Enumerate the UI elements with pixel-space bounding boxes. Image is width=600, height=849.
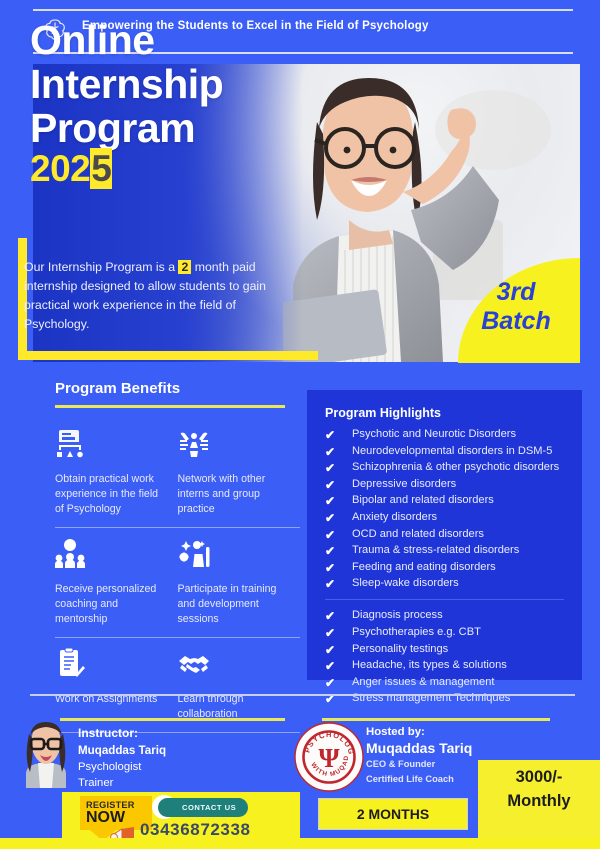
highlight-label: OCD and related disorders — [352, 528, 484, 540]
highlight-label: Anxiety disorders — [352, 511, 437, 523]
highlight-item: ✔Schizophrenia & other psychotic disorde… — [325, 459, 582, 476]
program-highlights-panel: Program Highlights ✔Psychotic and Neurot… — [307, 390, 582, 680]
highlight-item: ✔Trauma & stress-related disorders — [325, 542, 582, 559]
benefit-label: Obtain practical work experience in the … — [55, 472, 170, 517]
batch-line-1: 3rd — [460, 278, 572, 307]
network-hands-icon — [178, 427, 210, 459]
highlight-label: Psychotherapies e.g. CBT — [352, 626, 481, 638]
price-amount: 3000/- — [478, 765, 600, 789]
highlight-label: Feeding and eating disorders — [352, 561, 496, 573]
highlight-item: ✔OCD and related disorders — [325, 526, 582, 543]
highlight-item: ✔Anxiety disorders — [325, 509, 582, 526]
instructor-label: Instructor: — [78, 726, 228, 740]
highlights-list-group-2: ✔Diagnosis process ✔Psychotherapies e.g.… — [325, 607, 582, 707]
highlight-item: ✔Personality testings — [325, 641, 582, 658]
highlight-label: Personality testings — [352, 643, 448, 655]
handshake-icon — [178, 647, 210, 679]
benefits-title: Program Benefits — [55, 380, 300, 397]
highlight-item: ✔Stress management Techniques — [325, 690, 582, 707]
org-chart-icon — [55, 427, 87, 459]
clipboard-check-icon — [55, 647, 87, 679]
highlight-label: Schizophrenia & other psychotic disorder… — [352, 461, 559, 473]
benefit-item: Receive personalized coaching and mentor… — [55, 527, 178, 637]
contact-us-button[interactable]: CONTACT US — [158, 798, 248, 817]
instructor-accent-line — [60, 718, 285, 721]
hero-year-highlight: 5 — [90, 148, 112, 189]
people-group-icon — [55, 537, 87, 569]
highlight-item: ✔Sleep-wake disorders — [325, 575, 582, 592]
check-icon: ✔ — [325, 675, 339, 689]
highlight-item: ✔Depressive disorders — [325, 476, 582, 493]
instructor-role-2: Trainer — [78, 775, 228, 791]
highlight-item: ✔Anger issues & management — [325, 674, 582, 691]
check-icon: ✔ — [325, 427, 339, 441]
check-icon: ✔ — [325, 527, 339, 541]
hero-title-line-2: Internship — [30, 62, 223, 106]
instructor-role-1: Psychologist — [78, 759, 228, 775]
highlight-item: ✔Diagnosis process — [325, 607, 582, 624]
check-icon: ✔ — [325, 576, 339, 590]
highlights-group-divider — [325, 599, 564, 601]
highlight-label: Headache, its types & solutions — [352, 659, 507, 671]
benefit-label: Receive personalized coaching and mentor… — [55, 582, 170, 627]
bottom-divider — [30, 694, 575, 696]
hero-year: 2025 — [30, 148, 112, 190]
hero-title-line-1: Online — [30, 18, 223, 62]
phone-number[interactable]: 03436872338 — [140, 820, 251, 840]
highlights-list-group-1: ✔Psychotic and Neurotic Disorders ✔Neuro… — [325, 426, 582, 592]
check-icon: ✔ — [325, 625, 339, 639]
check-icon: ✔ — [325, 642, 339, 656]
skills-development-icon — [178, 537, 210, 569]
check-icon: ✔ — [325, 543, 339, 557]
highlight-item: ✔Psychotherapies e.g. CBT — [325, 624, 582, 641]
psychology-with-muqaddas-logo: PSYCHOLOGY WITH MUQADDAS Ψ — [294, 722, 364, 792]
description-part-1: Our Internship Program is a — [24, 260, 178, 274]
highlight-item: ✔Neurodevelopmental disorders in DSM-5 — [325, 443, 582, 460]
batch-badge: 3rd Batch — [460, 278, 572, 336]
poster-root: Empowering the Students to Excel in the … — [0, 0, 600, 849]
check-icon: ✔ — [325, 444, 339, 458]
left-edge-filler — [0, 760, 8, 790]
price-period: Monthly — [478, 789, 600, 813]
highlight-label: Depressive disorders — [352, 478, 456, 490]
hero-title-line-3: Program — [30, 106, 223, 150]
benefit-label: Participate in training and development … — [178, 582, 293, 627]
hero-title: Online Internship Program — [30, 18, 223, 150]
check-icon: ✔ — [325, 658, 339, 672]
benefit-item: Network with other interns and group pra… — [178, 418, 301, 527]
check-icon: ✔ — [325, 510, 339, 524]
benefit-label: Network with other interns and group pra… — [178, 472, 293, 517]
benefit-item: Obtain practical work experience in the … — [55, 418, 178, 527]
benefit-item: Participate in training and development … — [178, 527, 301, 637]
highlight-item: ✔Bipolar and related disorders — [325, 492, 582, 509]
price-block: 3000/- Monthly — [478, 765, 600, 813]
highlight-item: ✔Feeding and eating disorders — [325, 559, 582, 576]
hosted-by-label: Hosted by: — [366, 726, 516, 738]
hero-year-prefix: 202 — [30, 148, 90, 189]
highlight-item: ✔Headache, its types & solutions — [325, 657, 582, 674]
highlight-label: Trauma & stress-related disorders — [352, 544, 519, 556]
highlight-item: ✔Psychotic and Neurotic Disorders — [325, 426, 582, 443]
banner-divider-top — [33, 9, 573, 11]
duration-badge: 2 MONTHS — [318, 798, 468, 830]
hosted-by-name: Muqaddas Tariq — [366, 740, 516, 756]
check-icon: ✔ — [325, 608, 339, 622]
batch-line-2: Batch — [460, 307, 572, 336]
logo-psi-symbol: Ψ — [318, 743, 339, 773]
description-duration-highlight: 2 — [178, 260, 191, 274]
highlight-label: Psychotic and Neurotic Disorders — [352, 428, 516, 440]
hosted-accent-line — [322, 718, 550, 721]
highlight-label: Bipolar and related disorders — [352, 494, 494, 506]
instructor-name: Muqaddas Tariq — [78, 743, 228, 759]
check-icon: ✔ — [325, 493, 339, 507]
check-icon: ✔ — [325, 477, 339, 491]
benefits-grid: Obtain practical work experience in the … — [55, 418, 300, 733]
highlight-label: Neurodevelopmental disorders in DSM-5 — [352, 445, 552, 457]
benefits-title-underline — [55, 405, 285, 408]
instructor-block: Instructor: Muqaddas Tariq Psychologist … — [78, 726, 228, 791]
check-icon: ✔ — [325, 560, 339, 574]
highlight-label: Diagnosis process — [352, 609, 443, 621]
highlight-label: Anger issues & management — [352, 676, 494, 688]
program-benefits-section: Program Benefits Obtain practical work e… — [55, 380, 300, 733]
highlight-label: Sleep-wake disorders — [352, 577, 459, 589]
bottom-yellow-strip — [0, 838, 600, 849]
hero-description: Our Internship Program is a 2 month paid… — [24, 258, 294, 334]
check-icon: ✔ — [325, 460, 339, 474]
highlights-title: Program Highlights — [325, 406, 582, 420]
instructor-avatar — [18, 722, 74, 788]
